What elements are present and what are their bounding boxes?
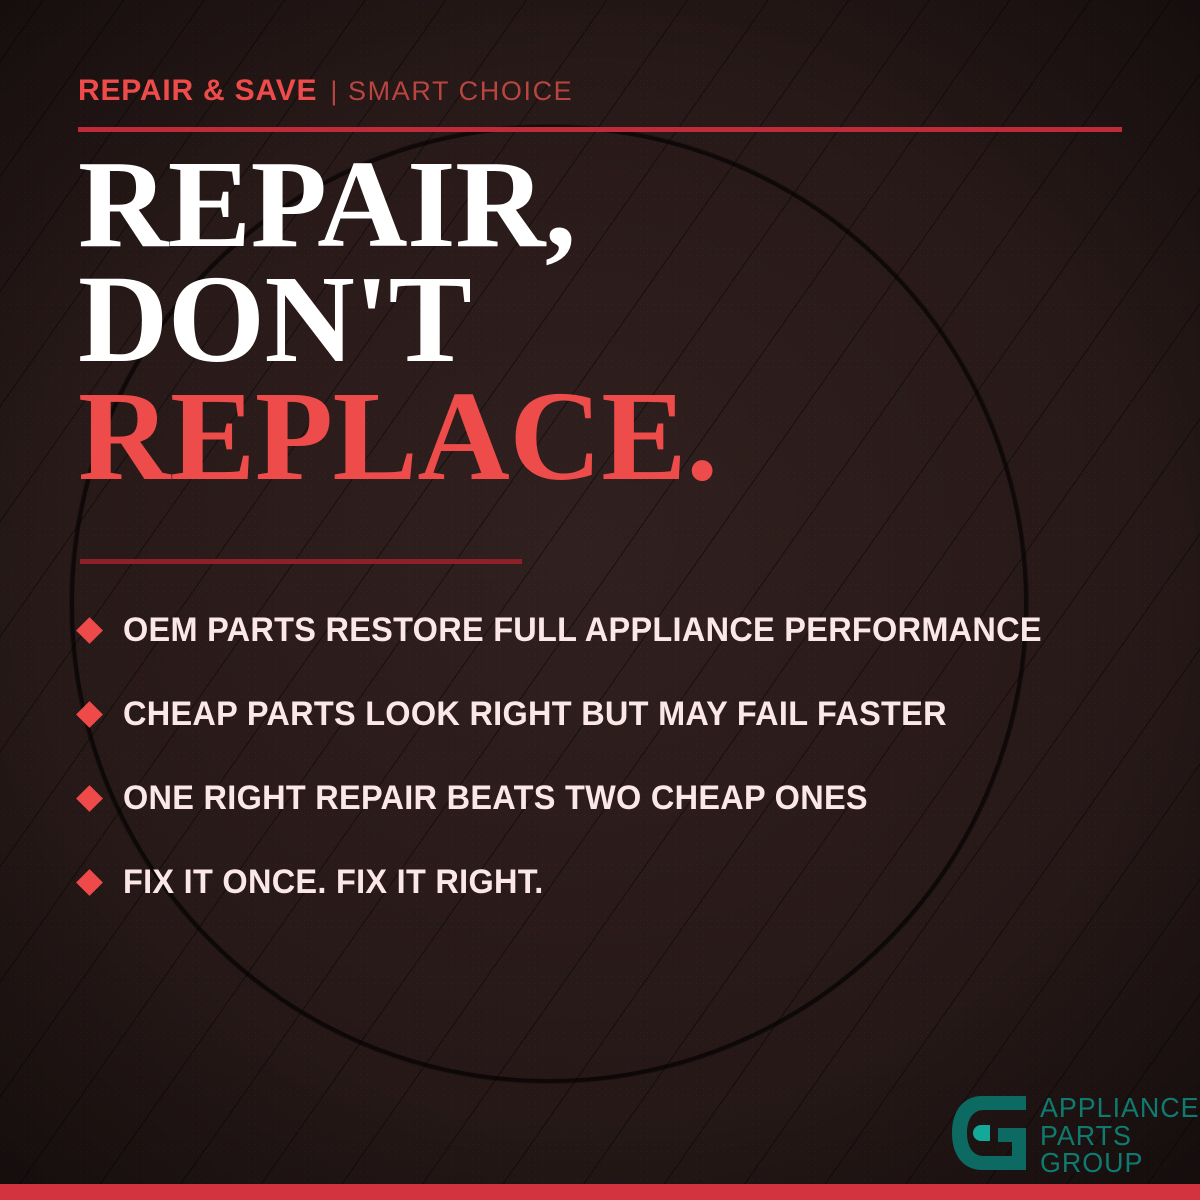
benefits-list: OEM PARTS RESTORE FULL APPLIANCE PERFORM… <box>80 588 1150 924</box>
page-title: REPAIR, DON'T REPLACE. <box>78 148 718 496</box>
list-item-label: OEM PARTS RESTORE FULL APPLIANCE PERFORM… <box>123 611 1042 650</box>
headline-line-1: REPAIR, <box>78 148 718 263</box>
headline-line-3: REPLACE. <box>78 378 718 496</box>
eyebrow-header: REPAIR & SAVE | SMART CHOICE <box>78 74 573 108</box>
brand-logo-wordmark: APPLIANCE PARTS GROUP <box>1040 1092 1200 1177</box>
headline-line-2: DON'T <box>78 263 718 378</box>
diamond-bullet-icon <box>76 869 103 896</box>
brand-logo-line-1: APPLIANCE <box>1040 1094 1200 1122</box>
list-item-label: FIX IT ONCE. FIX IT RIGHT. <box>123 863 544 902</box>
diamond-bullet-icon <box>76 701 103 728</box>
header-divider-rule <box>78 127 1122 132</box>
brand-logo-line-3: GROUP <box>1040 1149 1200 1177</box>
eyebrow-sub-label: | SMART CHOICE <box>330 76 573 107</box>
list-item: CHEAP PARTS LOOK RIGHT BUT MAY FAIL FAST… <box>80 672 1150 756</box>
list-item-label: CHEAP PARTS LOOK RIGHT BUT MAY FAIL FAST… <box>123 695 947 734</box>
eyebrow-main-label: REPAIR & SAVE <box>78 74 317 108</box>
poster-content: REPAIR & SAVE | SMART CHOICE REPAIR, DON… <box>0 0 1200 1200</box>
list-item: FIX IT ONCE. FIX IT RIGHT. <box>80 840 1150 924</box>
headline-divider-rule <box>80 559 522 564</box>
bottom-accent-bar <box>0 1184 1200 1200</box>
poster-canvas: REPAIR & SAVE | SMART CHOICE REPAIR, DON… <box>0 0 1200 1200</box>
g-monogram-icon <box>948 1092 1030 1174</box>
brand-logo-line-2: PARTS <box>1040 1122 1200 1150</box>
diamond-bullet-icon <box>76 617 103 644</box>
list-item: OEM PARTS RESTORE FULL APPLIANCE PERFORM… <box>80 588 1150 672</box>
brand-logo: APPLIANCE PARTS GROUP <box>948 1092 1200 1177</box>
list-item: ONE RIGHT REPAIR BEATS TWO CHEAP ONES <box>80 756 1150 840</box>
diamond-bullet-icon <box>76 785 103 812</box>
list-item-label: ONE RIGHT REPAIR BEATS TWO CHEAP ONES <box>123 779 868 818</box>
